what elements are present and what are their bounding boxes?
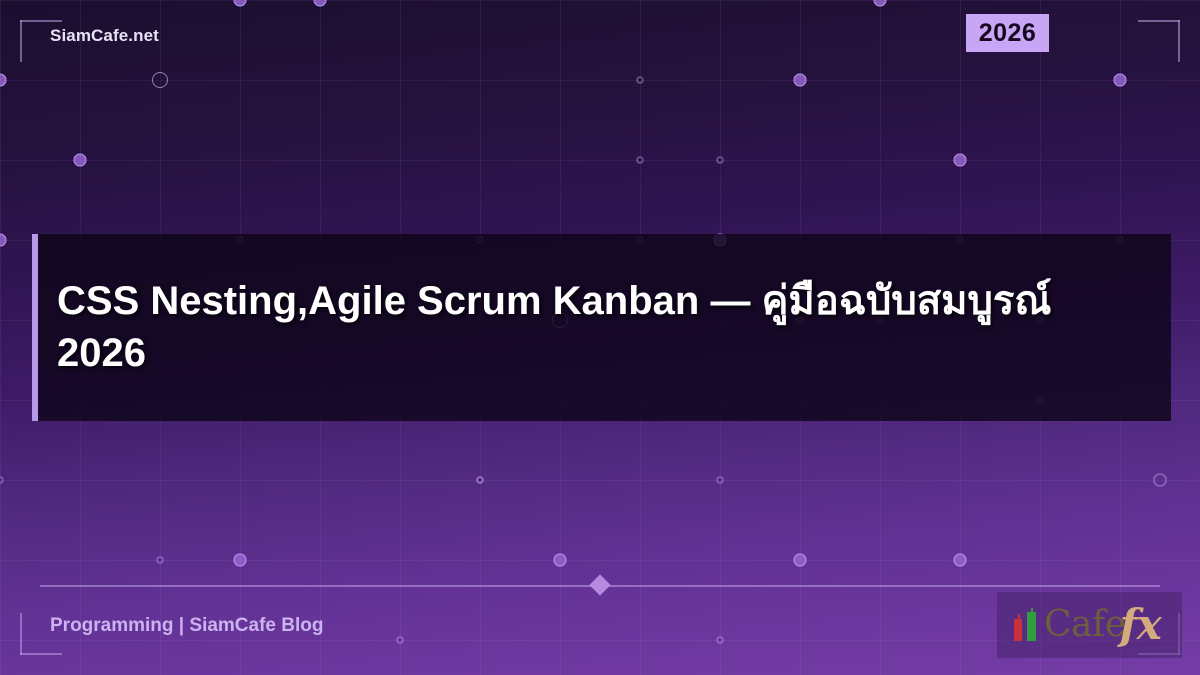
icafefx-logo: Cafe fx [997, 592, 1182, 658]
decorative-node [717, 637, 724, 644]
decorative-node [157, 557, 164, 564]
decorative-node [314, 0, 327, 7]
decorative-node [477, 477, 484, 484]
page-title: CSS Nesting,Agile Scrum Kanban — คู่มือฉ… [32, 276, 1171, 378]
decorative-node [0, 234, 7, 247]
logo-fx-text: fx [1120, 604, 1161, 646]
corner-bracket-top-right [1138, 20, 1180, 62]
decorative-node [0, 477, 4, 484]
decorative-node [1114, 74, 1127, 87]
title-block: CSS Nesting,Agile Scrum Kanban — คู่มือฉ… [32, 234, 1171, 421]
cover-canvas: SiamCafe.net 2026 CSS Nesting,Agile Scru… [0, 0, 1200, 675]
year-badge: 2026 [966, 14, 1049, 52]
decorative-node [234, 554, 247, 567]
decorative-node [397, 637, 404, 644]
candle-green-body [1027, 612, 1036, 641]
decorative-node [152, 72, 168, 88]
decorative-node [954, 554, 967, 567]
decorative-node [717, 477, 724, 484]
decorative-node [74, 154, 87, 167]
decorative-node [1154, 474, 1167, 487]
logo-cafe-text: Cafe [1044, 607, 1126, 643]
decorative-node [874, 0, 887, 7]
decorative-node [234, 0, 247, 7]
breadcrumb: Programming | SiamCafe Blog [50, 615, 323, 637]
decorative-node [637, 77, 644, 84]
decorative-node [0, 74, 7, 87]
decorative-node [794, 554, 807, 567]
diamond-marker-icon [589, 574, 610, 595]
site-name: SiamCafe.net [50, 26, 159, 46]
decorative-node [794, 74, 807, 87]
decorative-node [717, 157, 724, 164]
decorative-node [554, 554, 567, 567]
decorative-node [954, 154, 967, 167]
candlestick-chart-icon [1011, 608, 1041, 642]
decorative-node [637, 157, 644, 164]
decorative-node [477, 477, 484, 484]
candle-red-body [1014, 619, 1022, 641]
title-accent-bar [32, 234, 38, 421]
